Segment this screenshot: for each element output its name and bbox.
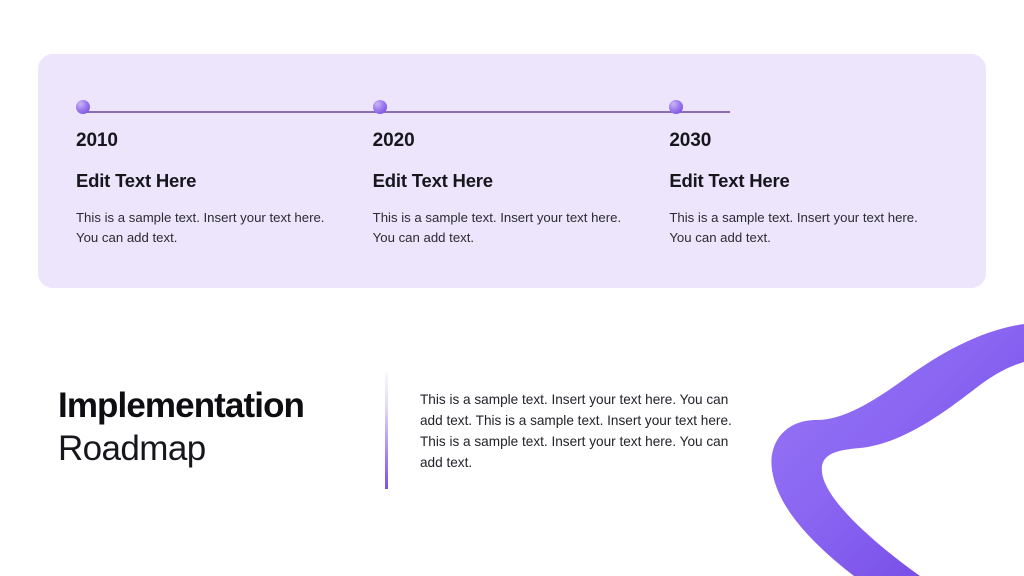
timeline-node-dot-icon xyxy=(76,100,90,114)
headline-secondary-line: Roadmap xyxy=(58,427,358,471)
body-paragraph: This is a sample text. Insert your text … xyxy=(420,389,745,473)
timeline-item-2030[interactable]: 2030 Edit Text Here This is a sample tex… xyxy=(669,100,966,247)
timeline-item-description: This is a sample text. Insert your text … xyxy=(373,208,623,247)
slide-canvas: 2010 Edit Text Here This is a sample tex… xyxy=(0,0,1024,576)
timeline-item-title: Edit Text Here xyxy=(76,170,373,192)
page-title: Implementation Roadmap xyxy=(58,385,358,471)
headline-primary-line: Implementation xyxy=(58,385,358,427)
timeline-item-2020[interactable]: 2020 Edit Text Here This is a sample tex… xyxy=(373,100,670,247)
purple-wave-ribbon-icon xyxy=(724,316,1024,576)
timeline-year-label: 2010 xyxy=(76,130,373,152)
timeline-node-dot-icon xyxy=(373,100,387,114)
timeline-item-description: This is a sample text. Insert your text … xyxy=(76,208,326,247)
timeline-year-label: 2030 xyxy=(669,130,966,152)
timeline-items-row: 2010 Edit Text Here This is a sample tex… xyxy=(76,100,966,247)
timeline-item-title: Edit Text Here xyxy=(669,170,966,192)
timeline-item-title: Edit Text Here xyxy=(373,170,670,192)
timeline-item-2010[interactable]: 2010 Edit Text Here This is a sample tex… xyxy=(76,100,373,247)
timeline-year-label: 2020 xyxy=(373,130,670,152)
timeline-node-dot-icon xyxy=(669,100,683,114)
timeline-item-description: This is a sample text. Insert your text … xyxy=(669,208,919,247)
vertical-gradient-divider xyxy=(385,372,388,489)
timeline-panel: 2010 Edit Text Here This is a sample tex… xyxy=(38,54,986,288)
